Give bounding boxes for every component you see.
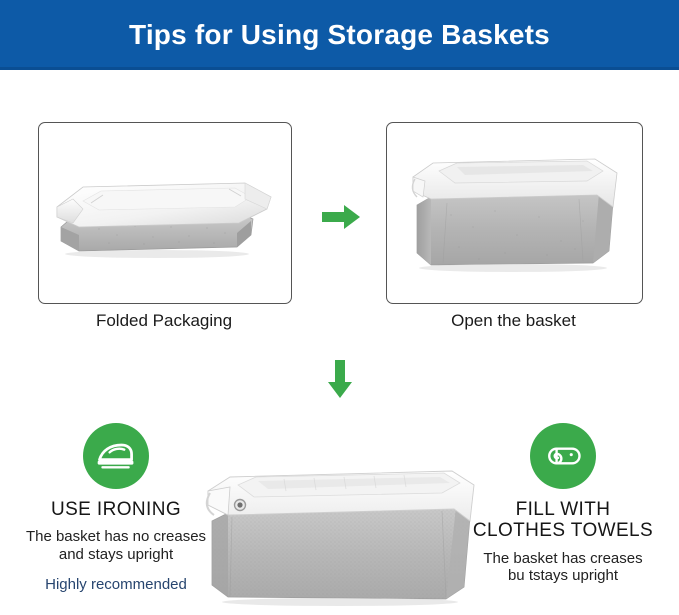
feature-subtitle: The basket has creases bu tstays upright (455, 550, 671, 585)
panel-open-basket (386, 122, 643, 304)
arrow-right-icon (320, 203, 362, 231)
feature-note: Highly recommended (8, 576, 224, 594)
panel-folded-packaging (38, 122, 292, 304)
feature-title: USE IRONING (8, 499, 224, 520)
iron-icon (83, 423, 149, 489)
feature-subtitle: The basket has no creases and stays upri… (8, 528, 224, 563)
header-underline (0, 67, 679, 70)
assembled-basket-photo (198, 465, 483, 610)
feature-title: FILL WITH CLOTHES TOWELS (455, 499, 671, 542)
arrow-down-icon (325, 358, 355, 400)
feature-fill-with-clothes-towels: FILL WITH CLOTHES TOWELS The basket has … (455, 423, 671, 597)
folded-basket-photo (39, 123, 291, 303)
rolled-towel-icon (530, 423, 596, 489)
feature-use-ironing: USE IRONING The basket has no creases an… (8, 423, 224, 594)
caption-folded-packaging: Folded Packaging (38, 311, 290, 331)
header-banner: Tips for Using Storage Baskets (0, 0, 679, 70)
open-basket-photo (387, 123, 642, 303)
caption-open-basket: Open the basket (386, 311, 641, 331)
page-title: Tips for Using Storage Baskets (129, 19, 550, 51)
